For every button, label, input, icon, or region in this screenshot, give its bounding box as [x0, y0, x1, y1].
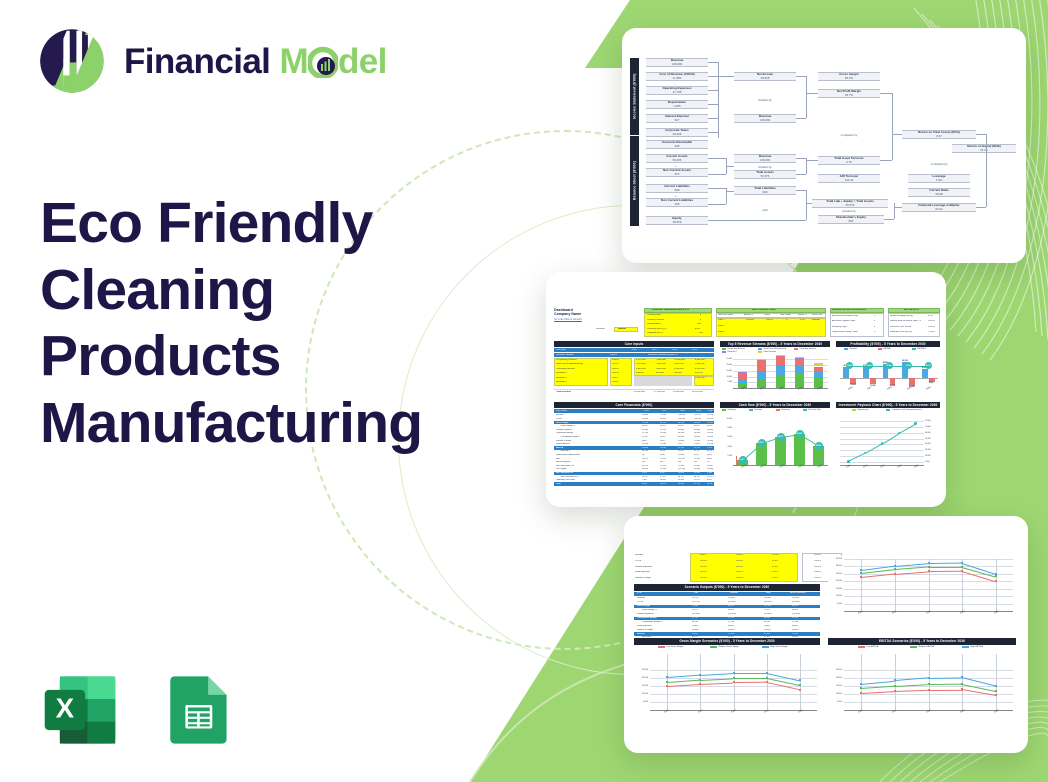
sc-row-label: COGS [637, 601, 643, 603]
cf-row-value: 52.0% [678, 450, 684, 452]
node-opex: Operating Expenses17,758 [646, 86, 708, 95]
chart-legend-item: Revenue [844, 348, 857, 350]
brand-word-model-o-icon [308, 44, 338, 79]
cf-row-value: 60.1% [660, 450, 666, 452]
series-point [799, 684, 801, 686]
cf-row-value: 54,894 [678, 436, 684, 438]
y-tick-label: 1,000 [925, 461, 939, 463]
series-line [928, 563, 962, 564]
scenario-trend-chart[interactable]: 5,00010,00015,00020,00025,00030,00035,00… [828, 556, 1016, 620]
cf-row-value: 52,295 [678, 447, 684, 449]
cf-row-label: Tax Payable [556, 468, 567, 470]
gross-margin-scenarios-title: Gross Margin Scenarios ($'000) - 5 Years… [634, 638, 820, 645]
cf-row-value: (1,500) [707, 440, 713, 442]
stacked-bar-segment [795, 358, 805, 365]
cf-row-value: (937) [678, 443, 683, 445]
scenario-analysis-preview[interactable]: Revenue80.0%100.0%120.0%100.0%COGS105.0%… [624, 516, 1028, 753]
cf-row-label: Depreciation & Amortisation [556, 454, 580, 456]
cash-flow-chart[interactable]: 2,0004,0006,0008,00010,0006,404202630,15… [720, 415, 830, 473]
sc-row-value: 76,750 [792, 617, 798, 619]
series-line [928, 567, 962, 568]
cf-row-value: 1,684 [707, 472, 712, 474]
y-tick-label: 35,000 [828, 558, 842, 560]
sc-row-value: (13,963) [728, 613, 736, 615]
sc-row-value: (13,963) [792, 613, 800, 615]
cf-row-label: Cash [556, 483, 561, 485]
cf-row-label: EBIT [556, 458, 560, 460]
cf-row-value: (1,154) [707, 443, 713, 445]
legend-label: Medium EBITDA [919, 646, 934, 648]
driver-high: 95.0% [772, 560, 778, 562]
chart-legend-item: Low EBITDA [858, 646, 878, 648]
sc-row-value: (13,940) [764, 613, 772, 615]
x-tick-label: 2027 [867, 387, 872, 391]
cf-row-value: 152,705 [678, 458, 685, 460]
microsoft-excel-icon: X [38, 668, 122, 752]
cf-row-label: Interest Expense [556, 461, 571, 463]
cf-row-value: 42.7% [707, 450, 713, 452]
google-sheets-icon [156, 668, 240, 752]
cf-row-highlight [554, 482, 714, 485]
dashboard-toc-link[interactable]: Go to the Table of Contents [554, 319, 582, 321]
y-tick-label: 6,000 [720, 436, 732, 438]
cf-row-value: 6,404 [642, 483, 647, 485]
x-tick-label: 2026 [664, 710, 669, 714]
sc-row-value: 48,198 [692, 621, 698, 623]
legend-swatch [852, 409, 856, 411]
series-point [995, 580, 997, 582]
ebitda-scenarios-title: EBITDA Scenarios ($'000) - 5 Years to De… [828, 638, 1016, 645]
driver-active: 100.0% [814, 571, 821, 573]
legend-swatch [722, 348, 726, 350]
series-point [995, 575, 997, 577]
cf-row-value: 8,947 [660, 472, 665, 474]
x-tick-label: 2030 [926, 387, 931, 391]
legend-swatch [722, 409, 726, 411]
cf-row-value: 28,830 [694, 432, 700, 434]
y-tick-label: 8,000 [720, 427, 732, 429]
legend-swatch [962, 646, 969, 647]
financial-dashboard-preview[interactable]: DashboardCompany Name Go to the Table of… [546, 272, 946, 507]
node-revenue: Revenue136,800 [646, 58, 708, 67]
sc-row-value: (47,880) [792, 601, 800, 603]
cf-row-value: 22,118 [642, 432, 648, 434]
profitability-chart[interactable]: 26,70015,40064.3%202627,00017,20060.1%20… [836, 354, 940, 394]
x-tick-label: 2026 [858, 710, 863, 714]
node-revenue-3: Revenue136,800 [734, 154, 796, 163]
investment-payback-title: Investment Payback Chart ($'000) - 5 Yea… [836, 402, 940, 408]
legend-swatch [749, 409, 753, 411]
y-tick-label: 20,000 [720, 364, 732, 366]
cf-row-value: 65.0% [707, 425, 713, 427]
page-title: Eco Friendly Cleaning Products Manufactu… [40, 190, 455, 457]
sc-row-value: 133,120 [692, 597, 699, 599]
sc-row-label: Gross Margin [637, 605, 650, 607]
cf-row-value: (1,011) [694, 443, 700, 445]
sc-row-label: Contribution Margin [637, 617, 657, 619]
y-tick-label: 10,000 [828, 693, 842, 695]
chart-legend-item: Cumulative Cash Generated (losses) [886, 409, 922, 411]
x-tick-label: 2030 [994, 710, 999, 714]
cf-row-label: Gross Margin [556, 422, 569, 424]
legend-label: Net Cash Flow [809, 409, 821, 411]
stacked-bar-segment [795, 358, 805, 359]
cf-row-value: (1,548) [660, 468, 666, 470]
legend-swatch [710, 646, 717, 647]
cf-row-highlight [554, 446, 714, 449]
stacked-bar-segment [776, 356, 786, 365]
y-tick-label: 70,000 [925, 426, 939, 428]
sc-row-value: 156,800 [792, 597, 799, 599]
node-total-asset-turnover: Total Asset Turnover2.70 [818, 156, 880, 165]
profitability-title: Profitability ($'000) - 5 Years to Decem… [836, 341, 940, 347]
cf-row-value: 20,791 [694, 447, 700, 449]
legend-label: Low Gross Margin [667, 646, 684, 648]
node-current-assets: Current Assets50,006 [646, 154, 708, 163]
sc-row-label: Revenue [637, 597, 645, 599]
dashboard-sheet: DashboardCompany Name Go to the Table of… [552, 308, 940, 478]
cf-row-value: 42,755 [694, 483, 700, 485]
payback-point [914, 422, 917, 425]
series-line [895, 690, 929, 692]
cf-row-value: 4,791 [707, 447, 712, 449]
sc-row-value: (23,136) [692, 613, 700, 615]
brand-logo: Financial M del [36, 25, 387, 97]
cf-row-value: 20,596 [642, 447, 648, 449]
cf-row-value: 48,150 [678, 422, 684, 424]
sc-row-value: 88,920 [792, 605, 798, 607]
node-current-liabilities: Current Liabilities848 [646, 184, 708, 193]
sc-row-value: 75,846 [692, 605, 698, 607]
cf-row-value: 6,812 [642, 472, 647, 474]
cf-row-value: 15,285 [660, 458, 666, 460]
top-5-revenue-streams-chart[interactable]: 5,00010,00015,00020,00025,00020262027202… [720, 354, 830, 394]
sc-row-label: Variable Expenses [637, 613, 654, 615]
cf-row-value: 10,956 [707, 432, 713, 434]
driver-active: 100.0% [814, 577, 821, 579]
chart-legend-item: EBITDA % [912, 348, 926, 350]
x-tick-label: 2028 [887, 387, 892, 391]
driver-active: 100.0% [814, 554, 821, 556]
cf-row-value: 13,440 [642, 418, 648, 420]
legend-label: Investing [755, 409, 762, 411]
node-liab-equity-assets: Total Liab + Equity = Total Assets50,576 [812, 199, 888, 208]
cf-row-value: (885) [642, 440, 647, 442]
sc-row-value: 65.0% [792, 609, 798, 611]
legend-swatch [858, 646, 865, 647]
y-tick-label: 40,000 [925, 443, 939, 445]
legend-swatch [776, 409, 780, 411]
driver-low: 105.0% [700, 560, 707, 562]
cf-row-value: (46) [694, 461, 697, 463]
sc-row-value: (8037) [728, 625, 734, 627]
cf-row-value: (1,604) [678, 440, 684, 442]
brand-word-model-m: M [279, 42, 308, 81]
sc-row-label: EBITDA [637, 633, 645, 635]
cashflow-bar [794, 434, 805, 465]
ebitda-bar [870, 378, 876, 384]
y-tick-label: 10,000 [828, 595, 842, 597]
cf-row-value: 44.7% [694, 476, 700, 478]
chart-legend-item: Medium Gross Margin [710, 646, 739, 648]
stacked-bar-segment [795, 374, 805, 388]
cf-row-label: Contribution Margin [556, 432, 573, 434]
legend-label: Small Parcel Manufacturing [764, 348, 787, 350]
cf-row-label: EBITDA [556, 447, 563, 449]
core-financials-title: Core Financials ($'000) [554, 402, 714, 408]
series-point [995, 690, 997, 692]
y-tick-label: 5,000 [828, 603, 842, 605]
cf-row-value: (287) [694, 454, 699, 456]
cf-row-value: 65.0% [642, 425, 648, 427]
cf-row-value: 10,782 [694, 472, 700, 474]
driver-label: COGS [635, 560, 641, 562]
cf-row-value: 16,552 [642, 458, 648, 460]
legend-label: High EBITDA [971, 646, 983, 648]
sc-row-value: 11,198 [792, 621, 798, 623]
y-tick-label: 30,000 [925, 449, 939, 451]
cf-row-value: 3,800 [707, 458, 712, 460]
stacked-bar-segment [776, 365, 786, 376]
node-equity: Equity49,629 [646, 216, 708, 225]
cf-row-highlight [554, 421, 714, 424]
cf-row-value: (9,853) [642, 468, 648, 470]
cf-row-value: 11,533 [660, 465, 666, 467]
ebitda-bar [850, 378, 856, 383]
legend-label: Operating [728, 409, 736, 411]
x-tick-label: 2028 [731, 710, 736, 714]
sc-row-label: Fixed Expenses [637, 625, 652, 627]
series-point [995, 694, 997, 696]
brand-wordmark: Financial M del [124, 44, 387, 79]
series-line [700, 682, 733, 684]
sc-row-label: Salaries & Wages [637, 629, 653, 631]
chart-legend-item: Consulting Services [794, 348, 816, 350]
y-tick-label: 15,000 [720, 370, 732, 372]
format-icons-group: X [38, 668, 240, 752]
cf-row-value: 11,075 [694, 479, 700, 481]
series-line [928, 571, 962, 572]
cf-row-value: 53,684 [694, 436, 700, 438]
stacked-bar-segment [814, 372, 824, 378]
ebitda-scenarios-chart[interactable]: 5,00010,00015,00020,00025,00020262027202… [828, 651, 1016, 719]
legend-swatch [878, 348, 882, 350]
driver-low: 105.0% [700, 571, 707, 573]
cf-row-value: (17) [707, 461, 710, 463]
y-tick-label: 15,000 [828, 588, 842, 590]
driver-high: 120.0% [772, 554, 779, 556]
dashboard-title: DashboardCompany Name [554, 308, 581, 317]
node-net-income: Net Income48,828 [734, 72, 796, 81]
cf-row-value: (38) [642, 461, 645, 463]
cf-row-value: 38,398 [694, 422, 700, 424]
cf-row-value: 19,195 [660, 447, 666, 449]
cf-row-label: Revenue [556, 414, 564, 416]
cf-row-value: 15,185 [694, 458, 700, 460]
sc-row-label: - Gross Margin % [641, 609, 657, 611]
driver-label: Variable Expenses [635, 566, 652, 568]
cf-row-value: 18,653 [660, 479, 666, 481]
cf-row-label: COGS [556, 418, 562, 420]
brand-word-financial: Financial [124, 42, 270, 81]
node-net-profit-margin: Net Profit Margin35.7% [818, 89, 880, 98]
ebitda-bar [909, 378, 915, 385]
series-point [995, 685, 997, 687]
legend-swatch [803, 409, 807, 411]
dupont-analysis-preview[interactable]: Income Statement ($'000) Balance Sheet (… [622, 28, 1026, 263]
x-tick-label: 2028 [926, 611, 931, 615]
ebitda-pct-bubble: 42.7% [925, 362, 932, 369]
scenario-outputs-title: Scenario Outputs ($'000) - 5 Years to De… [634, 584, 820, 591]
stacked-bar-segment [776, 355, 786, 356]
cf-row-label: Net Profit After Tax [556, 472, 573, 474]
series-point [799, 689, 801, 691]
gross-margin-scenarios-chart[interactable]: 5,00010,00015,00020,00025,00020262027202… [634, 651, 820, 719]
cf-row-value: 38,765 [678, 483, 684, 485]
series-line [861, 691, 895, 694]
cf-row-label: - EBITDA % [560, 450, 570, 452]
stacked-bar-segment [757, 359, 767, 360]
sc-row-value: 88,920 [728, 605, 734, 607]
y-tick-label: 2,000 [720, 455, 732, 457]
node-non-current-assets: Non Current Assets570 [646, 168, 708, 177]
cf-row-value: 106,700 [678, 414, 685, 416]
sc-row-value: 17,198 [728, 621, 734, 623]
cf-row-value: (68) [678, 461, 681, 463]
node-gross-margin: Gross margin65.0% [818, 72, 880, 81]
cf-row-value: (7,776) [660, 429, 666, 431]
sc-row-value: (3,185) [764, 629, 771, 631]
series-line [895, 567, 929, 570]
cf-row-value: 65.0% [694, 425, 700, 427]
cf-row-value: (37) [642, 454, 645, 456]
y-tick-label: 10,000 [720, 418, 732, 420]
cf-row-label: - Net Profit after Tax % [560, 476, 579, 478]
cf-row-value: 65.0% [678, 425, 684, 427]
stacked-bar-segment [738, 373, 748, 379]
stacked-bar-segment [738, 379, 748, 383]
sc-row-value: (45,892) [764, 601, 772, 603]
y-tick-label: 25,000 [720, 358, 732, 360]
x-tick-label: 2027 [892, 611, 897, 615]
x-tick-label: 2030 [798, 710, 803, 714]
stacked-bar-segment [738, 372, 748, 373]
driver-active: 100.0% [814, 566, 821, 568]
sc-row-label: - Contribution Margin % [641, 621, 663, 623]
sc-row-value: 71.4% [764, 609, 770, 611]
legend-swatch [794, 348, 798, 350]
dupont-sheet: Income Statement ($'000) Balance Sheet (… [630, 58, 1018, 233]
cf-row-value: 12,098 [660, 432, 666, 434]
legend-swatch [844, 348, 848, 350]
y-tick-label: 72,000 [925, 420, 939, 422]
cf-row-value: 34,726 [660, 422, 666, 424]
cf-row-label: Salaries & Wages [556, 440, 571, 442]
cf-row-value: 35.5% [707, 476, 713, 478]
series-line [928, 689, 962, 690]
stacked-bar-segment [757, 371, 767, 380]
revenue-bar [922, 369, 928, 378]
chart-legend-item: EBITDA [878, 348, 890, 350]
cf-row-value: 6,982 [707, 479, 712, 481]
node-financial-leverage-multiplier: Financial Leverage multiplier63.22 [902, 203, 976, 212]
cf-row-value: (4,056) [642, 429, 648, 431]
sc-row-value: 75,708 [792, 633, 798, 635]
cf-row-value: 65.0% [660, 425, 666, 427]
sc-row-value: 43,198 [764, 621, 770, 623]
sc-row-value: (57,274) [692, 601, 700, 603]
sc-row-value: 56.7% [692, 609, 698, 611]
cf-row-value: 10,016 [707, 418, 713, 420]
chart-legend-item: High Gross Margin [762, 646, 788, 648]
income-statement-band: Income Statement ($'000) [630, 58, 639, 135]
cf-row-label: - Contribution Margin % [560, 436, 580, 438]
stacked-bar-segment [776, 376, 786, 388]
driver-label: Salaries & Wages [635, 577, 651, 579]
cf-row-value: (1,190) [642, 443, 648, 445]
sc-row-value: 156,800 [728, 597, 735, 599]
series-line [928, 684, 962, 685]
legend-label: High Gross Margin [771, 646, 788, 648]
y-tick-label: 50,000 [925, 438, 939, 440]
cf-row-label: Net Profit Before Tax [556, 465, 574, 467]
chart-legend-item: High EBITDA [962, 646, 983, 648]
sc-row-value: 65.0% [728, 609, 734, 611]
ebitda-bar [890, 378, 896, 384]
series-line [734, 673, 767, 674]
legend-swatch [912, 348, 916, 350]
cf-row-value: (4,583) [694, 468, 700, 470]
legend-swatch [758, 348, 762, 350]
balance-sheet-band: Balance Sheet ($'000) [630, 136, 639, 226]
chart-legend-item: Payback year [852, 409, 869, 411]
legend-label: Medium Gross Margin [719, 646, 739, 648]
x-tick-label: 2027 [892, 710, 897, 714]
slide-canvas: Financial M del Eco Friendly Cleaning Pr… [0, 0, 1048, 782]
node-current-ratio: Current Ratio58.98 [908, 188, 970, 197]
cashflow-bar [775, 437, 786, 465]
node-leverage: Leverage1.9% [908, 174, 970, 183]
x-tick-label: 2029 [960, 611, 965, 615]
y-tick-label: 20,000 [634, 677, 648, 679]
cf-row-value: (1,108) [660, 443, 666, 445]
driver-high: 95.0% [772, 577, 778, 579]
cf-row-value: 102,525 [694, 414, 701, 416]
cf-row-value: 38,400 [642, 414, 648, 416]
cf-row-label: Operating Cash Flows [556, 479, 575, 481]
driver-high: 95.0% [772, 566, 778, 568]
circular-bar-chart-logo-icon [36, 25, 108, 97]
legend-label: EBITDA % [918, 348, 927, 350]
cf-row-value: 56.54 [660, 436, 665, 438]
stacked-bar-segment [814, 367, 824, 372]
node-shareholders-equity: Shareholder's Equity800 [818, 215, 884, 224]
cf-row-value: 46,192 [707, 483, 713, 485]
legend-swatch [658, 646, 665, 647]
sc-row-value: (7501) [692, 625, 698, 627]
driver-medium: 100.0% [736, 566, 743, 568]
node-roa: Return on Total Assets (ROA)0.97 [902, 130, 976, 139]
cf-row-value: 61.7% [694, 450, 700, 452]
cf-row-value: (1,544) [694, 440, 700, 442]
legend-label: Pre-packing Services [728, 348, 745, 350]
investment-payback-chart[interactable]: 1,00020,00030,00040,00050,00060,00070,00… [836, 415, 940, 473]
node-accounts-receivable: Accounts Receivable948 [646, 140, 708, 149]
sc-row-value: 57,710 [692, 617, 698, 619]
cf-row-label: Variable Expenses [556, 429, 572, 431]
cf-row-value: 34,048 [678, 432, 684, 434]
cf-row-value: 11,852 [707, 465, 713, 467]
